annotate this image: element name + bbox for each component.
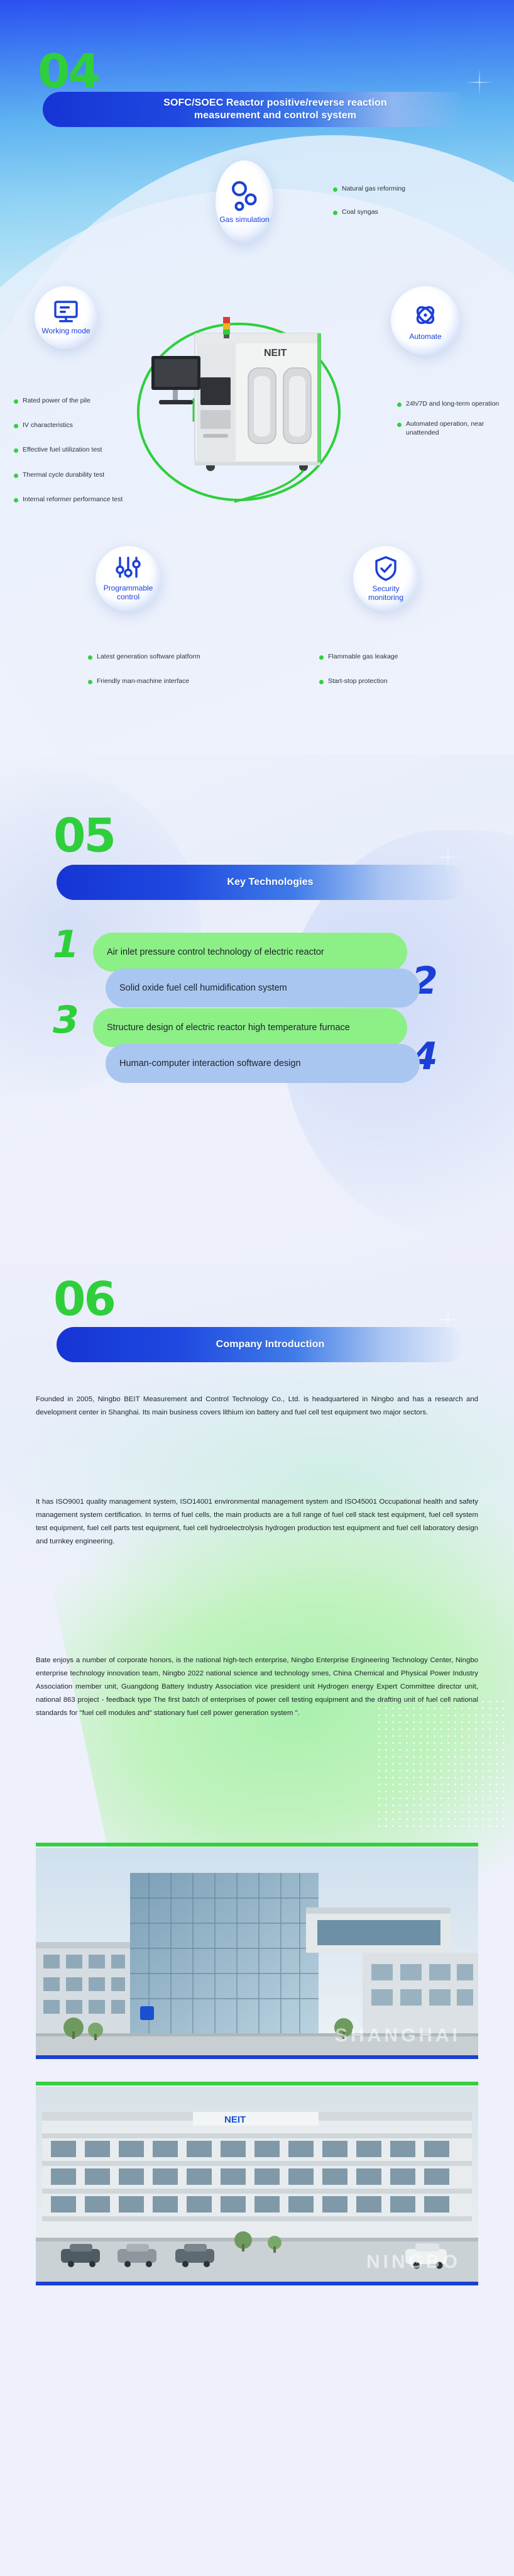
section-title-06: Company Introduction (197, 1338, 325, 1351)
photo-watermark-shanghai: SHANGHAI (335, 2025, 461, 2046)
working-mode-bullet-list: Rated power of the pile IV characteristi… (14, 396, 123, 512)
photo1-bottom-accent-bar (36, 2055, 478, 2059)
bubbles-icon (229, 180, 260, 213)
list-item: Internal reformer performance test (14, 495, 123, 504)
bullet-text: Latest generation software platform (97, 652, 200, 661)
bullet-dot-icon (319, 655, 324, 660)
intro-paragraph-1: Founded in 2005, Ningbo BEIT Measurement… (36, 1393, 478, 1419)
automate-bullet-list: 24h/7D and long-term operation Automated… (397, 399, 505, 446)
section-title-bar-04: SOFC/SOEC Reactor positive/reverse react… (43, 92, 470, 127)
shield-check-icon (373, 555, 398, 582)
badge-label-working-mode: Working mode (41, 327, 90, 336)
bullet-dot-icon (319, 680, 324, 684)
tech-pill-text-3: Structure design of electric reactor hig… (107, 1022, 350, 1034)
badge-working-mode: Working mode (35, 286, 97, 349)
section-key-technologies: 05 Key Technologies 1 Air inlet pressure… (0, 755, 514, 1264)
gas-bullet-list: Natural gas reforming Coal syngas (333, 184, 405, 225)
tech-number-3: 3 (53, 1001, 79, 1039)
bullet-text: Flammable gas leakage (328, 652, 398, 661)
tech-pill-text-2: Solid oxide fuel cell humidification sys… (119, 982, 287, 994)
intro-paragraph-2: It has ISO9001 quality management system… (36, 1496, 478, 1548)
badge-gas-simulation: Gas simulation (216, 160, 273, 243)
list-item: Flammable gas leakage (319, 652, 398, 661)
list-item: Automated operation, near unattended (397, 419, 505, 437)
photo2-top-accent-bar (36, 2082, 478, 2085)
svg-text:NEIT: NEIT (224, 2114, 246, 2125)
security-bullet-list: Flammable gas leakage Start-stop protect… (319, 652, 398, 694)
list-item: Effective fuel utilization test (14, 445, 123, 454)
bullet-text: Internal reformer performance test (23, 495, 123, 504)
bullet-text: Natural gas reforming (342, 184, 405, 193)
badge-label-gas-simulation: Gas simulation (219, 216, 269, 225)
badge-automate: Automate (391, 286, 460, 355)
section-title-bar-05: Key Technologies (57, 865, 465, 900)
list-item: 24h/7D and long-term operation (397, 399, 505, 408)
section-title-04: SOFC/SOEC Reactor positive/reverse react… (126, 97, 387, 122)
section-title-bar-06: Company Introduction (57, 1327, 465, 1362)
tech-pill-3: Structure design of electric reactor hig… (93, 1008, 407, 1047)
monitor-icon (53, 300, 79, 324)
programmable-bullet-list: Latest generation software platform Frie… (88, 652, 200, 694)
badge-label-automate: Automate (409, 333, 441, 341)
tech-number-1: 1 (53, 926, 79, 963)
bullet-text: Start-stop protection (328, 677, 388, 686)
photo2-bottom-accent-bar (36, 2282, 478, 2285)
bullet-dot-icon (397, 402, 402, 407)
section-sofc-soec: 04 SOFC/SOEC Reactor positive/reverse re… (0, 0, 514, 755)
tech-pill-text-1: Air inlet pressure control technology of… (107, 947, 324, 958)
bullet-dot-icon (333, 211, 337, 215)
intro-paragraph-3: Bate enjoys a number of corporate honors… (36, 1654, 478, 1720)
section-number-04: 04 (38, 50, 99, 93)
bullet-dot-icon (14, 448, 18, 453)
reactor-machine-illustration: NEIT (129, 302, 346, 509)
bullet-text: Effective fuel utilization test (23, 445, 102, 454)
bullet-text: Friendly man-machine interface (97, 677, 189, 686)
bullet-dot-icon (14, 474, 18, 478)
list-item: Start-stop protection (319, 677, 398, 686)
sparkle-icon (465, 68, 494, 97)
photo1-top-accent-bar (36, 1843, 478, 1846)
bullet-dot-icon (14, 424, 18, 428)
list-item: IV characteristics (14, 421, 123, 430)
bullet-text: IV characteristics (23, 421, 73, 430)
section-title-05: Key Technologies (208, 876, 313, 889)
bullet-dot-icon (14, 399, 18, 404)
badge-programmable-control: Programmablecontrol (96, 546, 161, 611)
bullet-text: Coal syngas (342, 208, 378, 216)
bullet-text: Thermal cycle durability test (23, 470, 104, 479)
bullet-dot-icon (14, 498, 18, 502)
list-item: Thermal cycle durability test (14, 470, 123, 479)
photo-watermark-ningbo: NINGBO (366, 2251, 461, 2273)
section-number-06: 06 (53, 1278, 114, 1321)
bullet-dot-icon (88, 680, 92, 684)
bullet-text: Rated power of the pile (23, 396, 90, 405)
bullet-text: 24h/7D and long-term operation (406, 399, 499, 408)
bullet-dot-icon (397, 423, 402, 427)
bullet-text: Automated operation, near unattended (406, 419, 505, 437)
atom-icon (411, 301, 440, 330)
section-company-introduction: 06 Company Introduction Founded in 2005,… (0, 1264, 514, 2576)
list-item: Latest generation software platform (88, 652, 200, 661)
badge-label-security-monitoring: Securitymonitoring (368, 585, 403, 602)
photo-ningbo-building: NEIT NINGBO (36, 2087, 478, 2282)
bullet-dot-icon (333, 187, 337, 192)
badge-label-programmable-control: Programmablecontrol (104, 584, 153, 602)
sliders-icon (114, 556, 142, 581)
svg-text:NEIT: NEIT (264, 348, 287, 358)
badge-security-monitoring: Securitymonitoring (353, 546, 418, 611)
tech-pill-text-4: Human-computer interaction software desi… (119, 1058, 301, 1070)
section-number-05: 05 (53, 814, 114, 857)
list-item: Rated power of the pile (14, 396, 123, 405)
tech-pill-2: Solid oxide fuel cell humidification sys… (106, 969, 420, 1008)
tech-pill-4: Human-computer interaction software desi… (106, 1044, 420, 1083)
tech-pill-1: Air inlet pressure control technology of… (93, 933, 407, 972)
list-item: Natural gas reforming (333, 184, 405, 193)
bullet-dot-icon (88, 655, 92, 660)
list-item: Coal syngas (333, 208, 405, 216)
list-item: Friendly man-machine interface (88, 677, 200, 686)
photo-shanghai-building: SHANGHAI (36, 1848, 478, 2055)
